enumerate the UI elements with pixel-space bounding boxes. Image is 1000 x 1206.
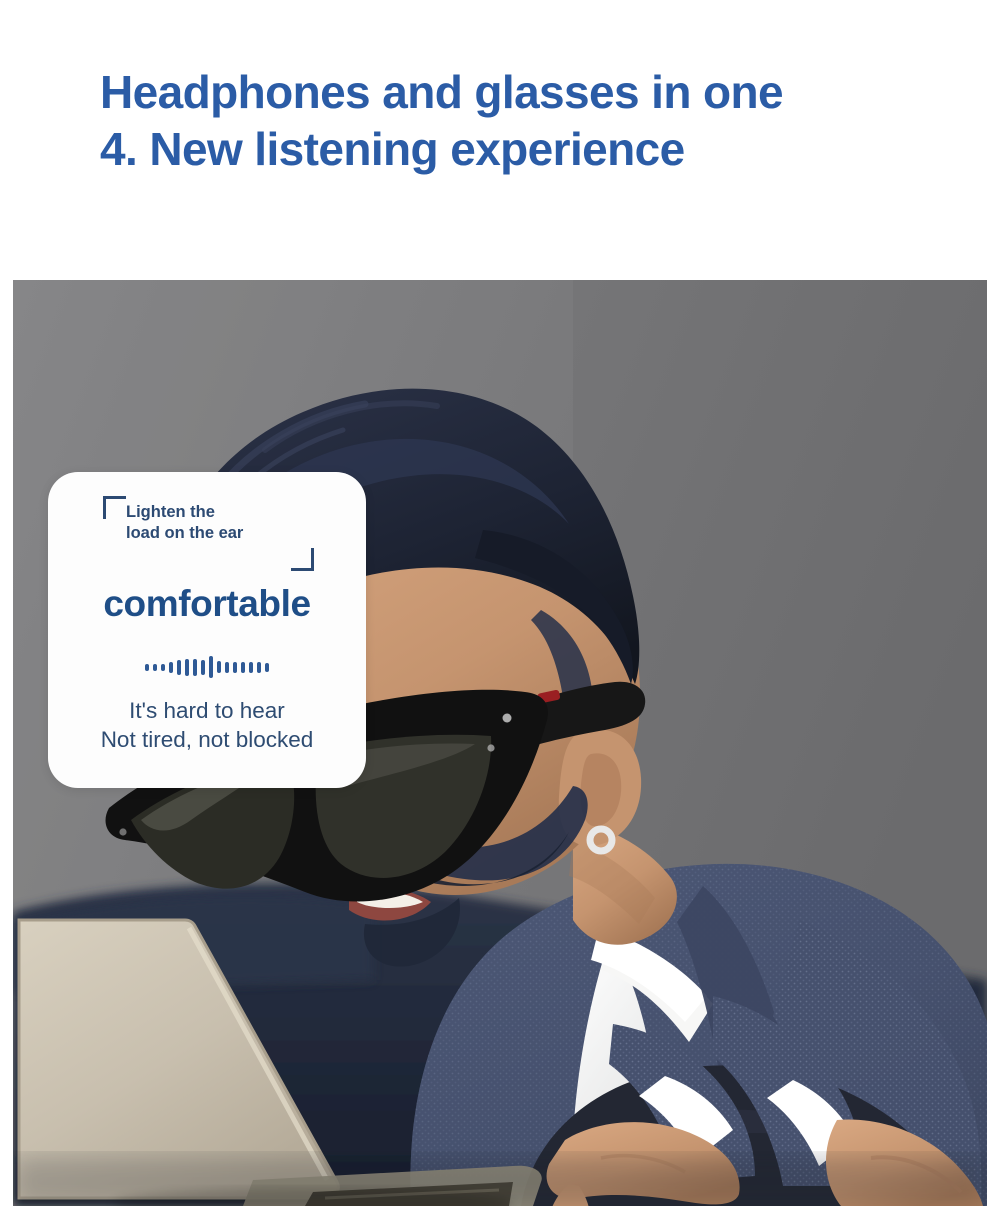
waveform-bar	[225, 662, 229, 673]
heading-line-1: Headphones and glasses in one	[100, 64, 920, 121]
waveform-bar	[177, 660, 181, 675]
waveform-bar	[241, 662, 245, 673]
waveform-bar	[153, 664, 157, 671]
waveform-bar	[201, 660, 205, 675]
product-feature-page: Headphones and glasses in one 4. New lis…	[0, 0, 1000, 1206]
waveform-bar	[249, 662, 253, 673]
waveform-bar	[169, 662, 173, 673]
page-heading: Headphones and glasses in one 4. New lis…	[100, 64, 920, 178]
waveform-bar	[145, 664, 149, 671]
subtext-line-2: Not tired, not blocked	[48, 725, 366, 754]
kicker-line-1: Lighten the	[126, 502, 326, 523]
heading-line-2: 4. New listening experience	[100, 121, 920, 178]
waveform-bar	[161, 664, 165, 671]
card-headline: comfortable	[48, 582, 366, 626]
subtext-line-1: It's hard to hear	[48, 696, 366, 725]
kicker-line-2: load on the ear	[126, 523, 326, 544]
card-subtext: It's hard to hear Not tired, not blocked	[48, 696, 366, 754]
kicker-text: Lighten the load on the ear	[126, 502, 326, 544]
waveform-bar	[209, 656, 213, 678]
waveform-bar	[217, 661, 221, 673]
waveform-bar	[185, 659, 189, 676]
corner-bracket-bottom-right-icon	[291, 548, 314, 571]
audio-waveform-icon	[48, 652, 366, 682]
corner-bracket-top-left-icon	[103, 496, 126, 519]
kicker-group: Lighten the load on the ear	[48, 494, 366, 572]
waveform-bar	[257, 662, 261, 673]
waveform-bar	[193, 659, 197, 676]
feature-info-card: Lighten the load on the ear comfortable …	[48, 472, 366, 788]
waveform-bar	[265, 663, 269, 672]
waveform-bar	[233, 662, 237, 673]
